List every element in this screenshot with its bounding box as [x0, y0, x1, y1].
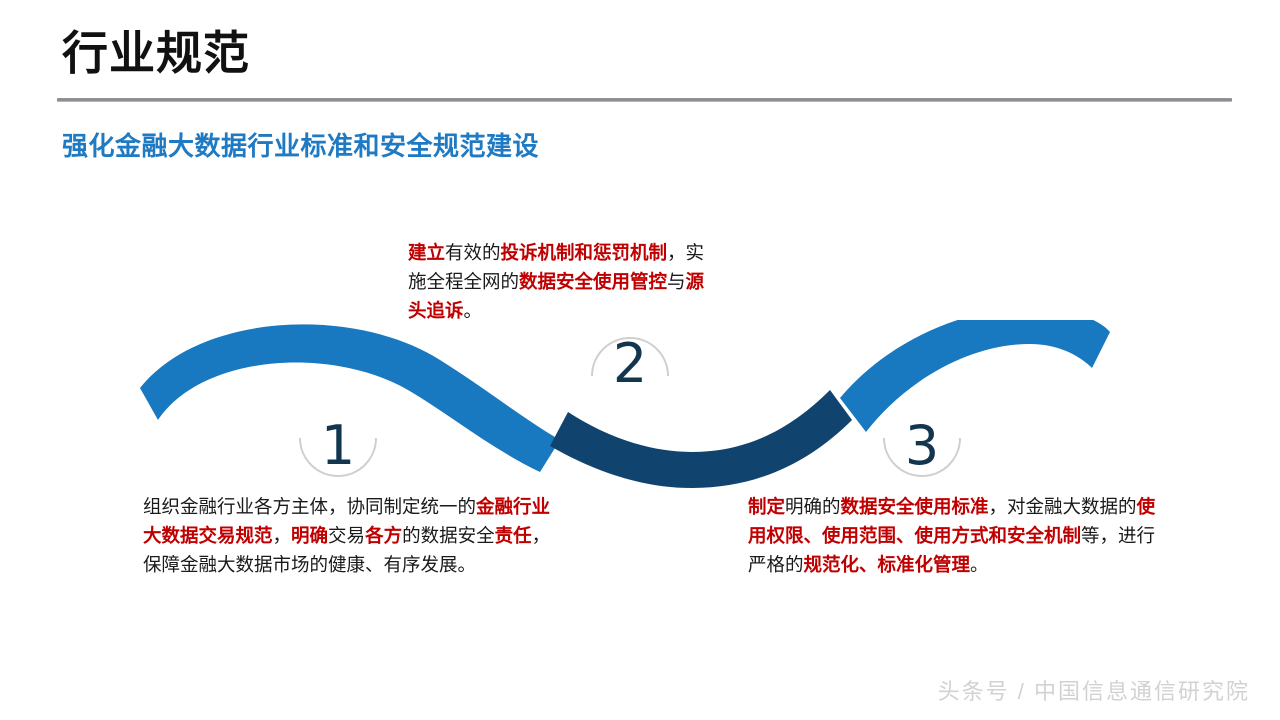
text-run: 与 [667, 271, 686, 292]
step-2-description: 建立有效的投诉机制和惩罚机制，实施全程全网的数据安全使用管控与源头追诉。 [408, 238, 718, 325]
step-number-3: 3 [876, 400, 968, 492]
step-1-description: 组织金融行业各方主体，协同制定统一的金融行业大数据交易规范，明确交易各方的数据安… [143, 492, 555, 579]
highlighted-text-run: 制定 [748, 496, 785, 517]
text-run: 组织金融行业各方主体，协同制定统一的 [143, 496, 476, 517]
step-badge-2: 2 [584, 318, 676, 410]
highlighted-text-run: 数据安全使用标准 [841, 496, 989, 517]
text-run: 明确的 [785, 496, 841, 517]
text-run: ，对金融大数据的 [989, 496, 1137, 517]
text-run: 有效的 [445, 242, 501, 263]
slide-canvas: 行业规范 强化金融大数据行业标准和安全规范建设 1 2 3 建立有效的投诉机制和 [0, 0, 1280, 720]
highlighted-text-run: 数据安全使用管控 [519, 271, 667, 292]
step-badge-3: 3 [876, 400, 968, 492]
step-badge-1: 1 [292, 400, 384, 492]
highlighted-text-run: 建立 [408, 242, 445, 263]
highlighted-text-run: 明确 [291, 525, 328, 546]
step-number-2: 2 [584, 318, 676, 410]
highlighted-text-run: 投诉机制和惩罚机制 [501, 242, 668, 263]
footer-watermark: 头条号 / 中国信息通信研究院 [938, 674, 1250, 706]
highlighted-text-run: 规范化、标准化管理 [804, 554, 971, 575]
step-3-description: 制定明确的数据安全使用标准，对金融大数据的使用权限、使用范围、使用方式和安全机制… [748, 492, 1160, 579]
text-run: 交易 [328, 525, 365, 546]
text-run: 。 [970, 554, 989, 575]
highlighted-text-run: 各方 [365, 525, 402, 546]
text-run: ， [273, 525, 292, 546]
step-number-1: 1 [292, 400, 384, 492]
text-run: 。 [464, 300, 483, 321]
highlighted-text-run: 责任 [495, 525, 532, 546]
title-divider [57, 98, 1232, 102]
page-title: 行业规范 [62, 28, 250, 79]
text-run: 的数据安全 [402, 525, 495, 546]
slide-subtitle: 强化金融大数据行业标准和安全规范建设 [62, 126, 539, 163]
